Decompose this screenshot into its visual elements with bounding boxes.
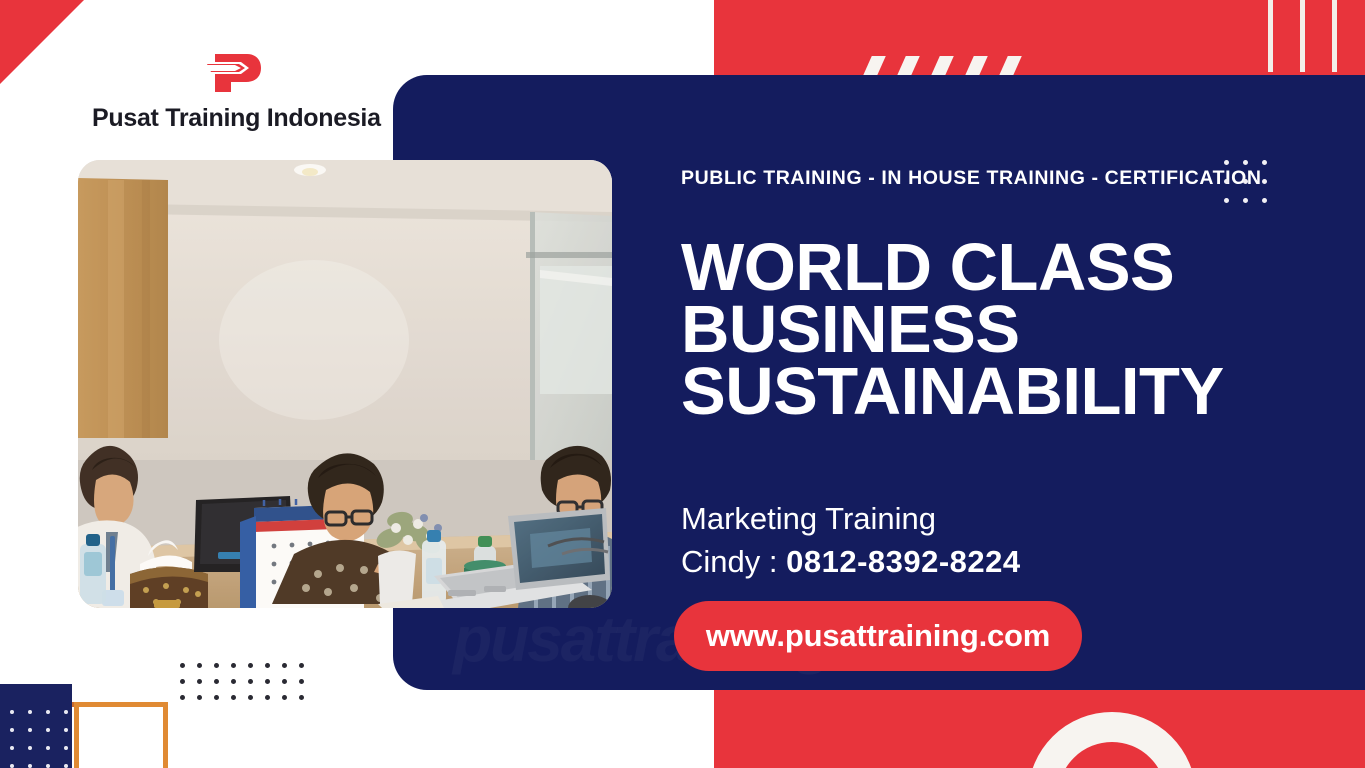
- grid-dot: [64, 728, 68, 732]
- grid-dot: [46, 728, 50, 732]
- grid-dot: [231, 663, 236, 668]
- hero-dot-grid: [1224, 160, 1268, 204]
- headline-line-1: WORLD CLASS: [681, 237, 1301, 299]
- grid-dot: [299, 679, 304, 684]
- grid-dot: [1262, 160, 1267, 165]
- grid-dot: [10, 746, 14, 750]
- grid-dot: [64, 764, 68, 768]
- grid-dot: [231, 679, 236, 684]
- brand-name: Pusat Training Indonesia: [92, 104, 372, 133]
- headline-line-3: SUSTAINABILITY: [681, 361, 1301, 423]
- grid-dot: [265, 695, 270, 700]
- contact-phone[interactable]: 0812-8392-8224: [786, 544, 1021, 579]
- contact-line: Cindy : 0812-8392-8224: [681, 544, 1021, 580]
- website-cta-button[interactable]: www.pusattraining.com: [674, 601, 1082, 671]
- grid-dot: [265, 679, 270, 684]
- grid-dot: [1243, 160, 1248, 165]
- grid-dot: [1243, 179, 1248, 184]
- grid-dot: [248, 695, 253, 700]
- grid-dot: [28, 746, 32, 750]
- website-cta-label: www.pusattraining.com: [706, 618, 1050, 654]
- grid-dot: [46, 710, 50, 714]
- grid-dot: [248, 663, 253, 668]
- grid-dot: [1243, 198, 1248, 203]
- grid-dot: [197, 663, 202, 668]
- grid-dot: [180, 695, 185, 700]
- grid-dot: [299, 695, 304, 700]
- grid-dot: [214, 695, 219, 700]
- grid-dot: [265, 663, 270, 668]
- grid-dot: [248, 679, 253, 684]
- photo-illustration: [78, 160, 612, 608]
- grid-dot: [282, 679, 287, 684]
- grid-dot: [197, 695, 202, 700]
- grid-dot: [64, 746, 68, 750]
- grid-dot: [10, 764, 14, 768]
- grid-dot: [1224, 179, 1229, 184]
- eyebrow-text: PUBLIC TRAINING - IN HOUSE TRAINING - CE…: [681, 167, 1262, 190]
- grid-dot: [64, 710, 68, 714]
- grid-dot: [231, 695, 236, 700]
- training-session-photo: [78, 160, 612, 608]
- brand-logo: Pusat Training Indonesia: [92, 48, 372, 133]
- grid-dot: [28, 728, 32, 732]
- navy-corner-block: [0, 684, 72, 768]
- grid-dot: [214, 663, 219, 668]
- mid-dot-grid: [180, 663, 304, 699]
- grid-dot: [282, 663, 287, 668]
- grid-dot: [46, 764, 50, 768]
- grid-dot: [1224, 198, 1229, 203]
- grid-dot: [1224, 160, 1229, 165]
- grid-dot: [46, 746, 50, 750]
- headline-line-2: BUSINESS: [681, 299, 1301, 361]
- grid-dot: [180, 679, 185, 684]
- page-title: WORLD CLASS BUSINESS SUSTAINABILITY: [681, 237, 1301, 423]
- grid-dot: [10, 710, 14, 714]
- vertical-bar-decor: [1300, 0, 1305, 72]
- grid-dot: [1262, 179, 1267, 184]
- grid-dot: [28, 710, 32, 714]
- contact-person-label: Cindy :: [681, 544, 777, 579]
- vertical-bar-decor: [1268, 0, 1273, 72]
- grid-dot: [197, 679, 202, 684]
- red-corner-triangle-icon: [0, 0, 84, 84]
- grid-dot: [214, 679, 219, 684]
- grid-dot: [1262, 198, 1267, 203]
- vertical-bar-decor: [1332, 0, 1337, 72]
- promotional-banner: pusattraining Pusat Training Indonesia: [0, 0, 1365, 768]
- p-arrow-logo-icon: [201, 48, 263, 96]
- grid-dot: [299, 663, 304, 668]
- grid-dot: [28, 764, 32, 768]
- grid-dot: [180, 663, 185, 668]
- grid-dot: [282, 695, 287, 700]
- grid-dot: [10, 728, 14, 732]
- department-label: Marketing Training: [681, 501, 936, 537]
- orange-frame-decor: [74, 702, 168, 768]
